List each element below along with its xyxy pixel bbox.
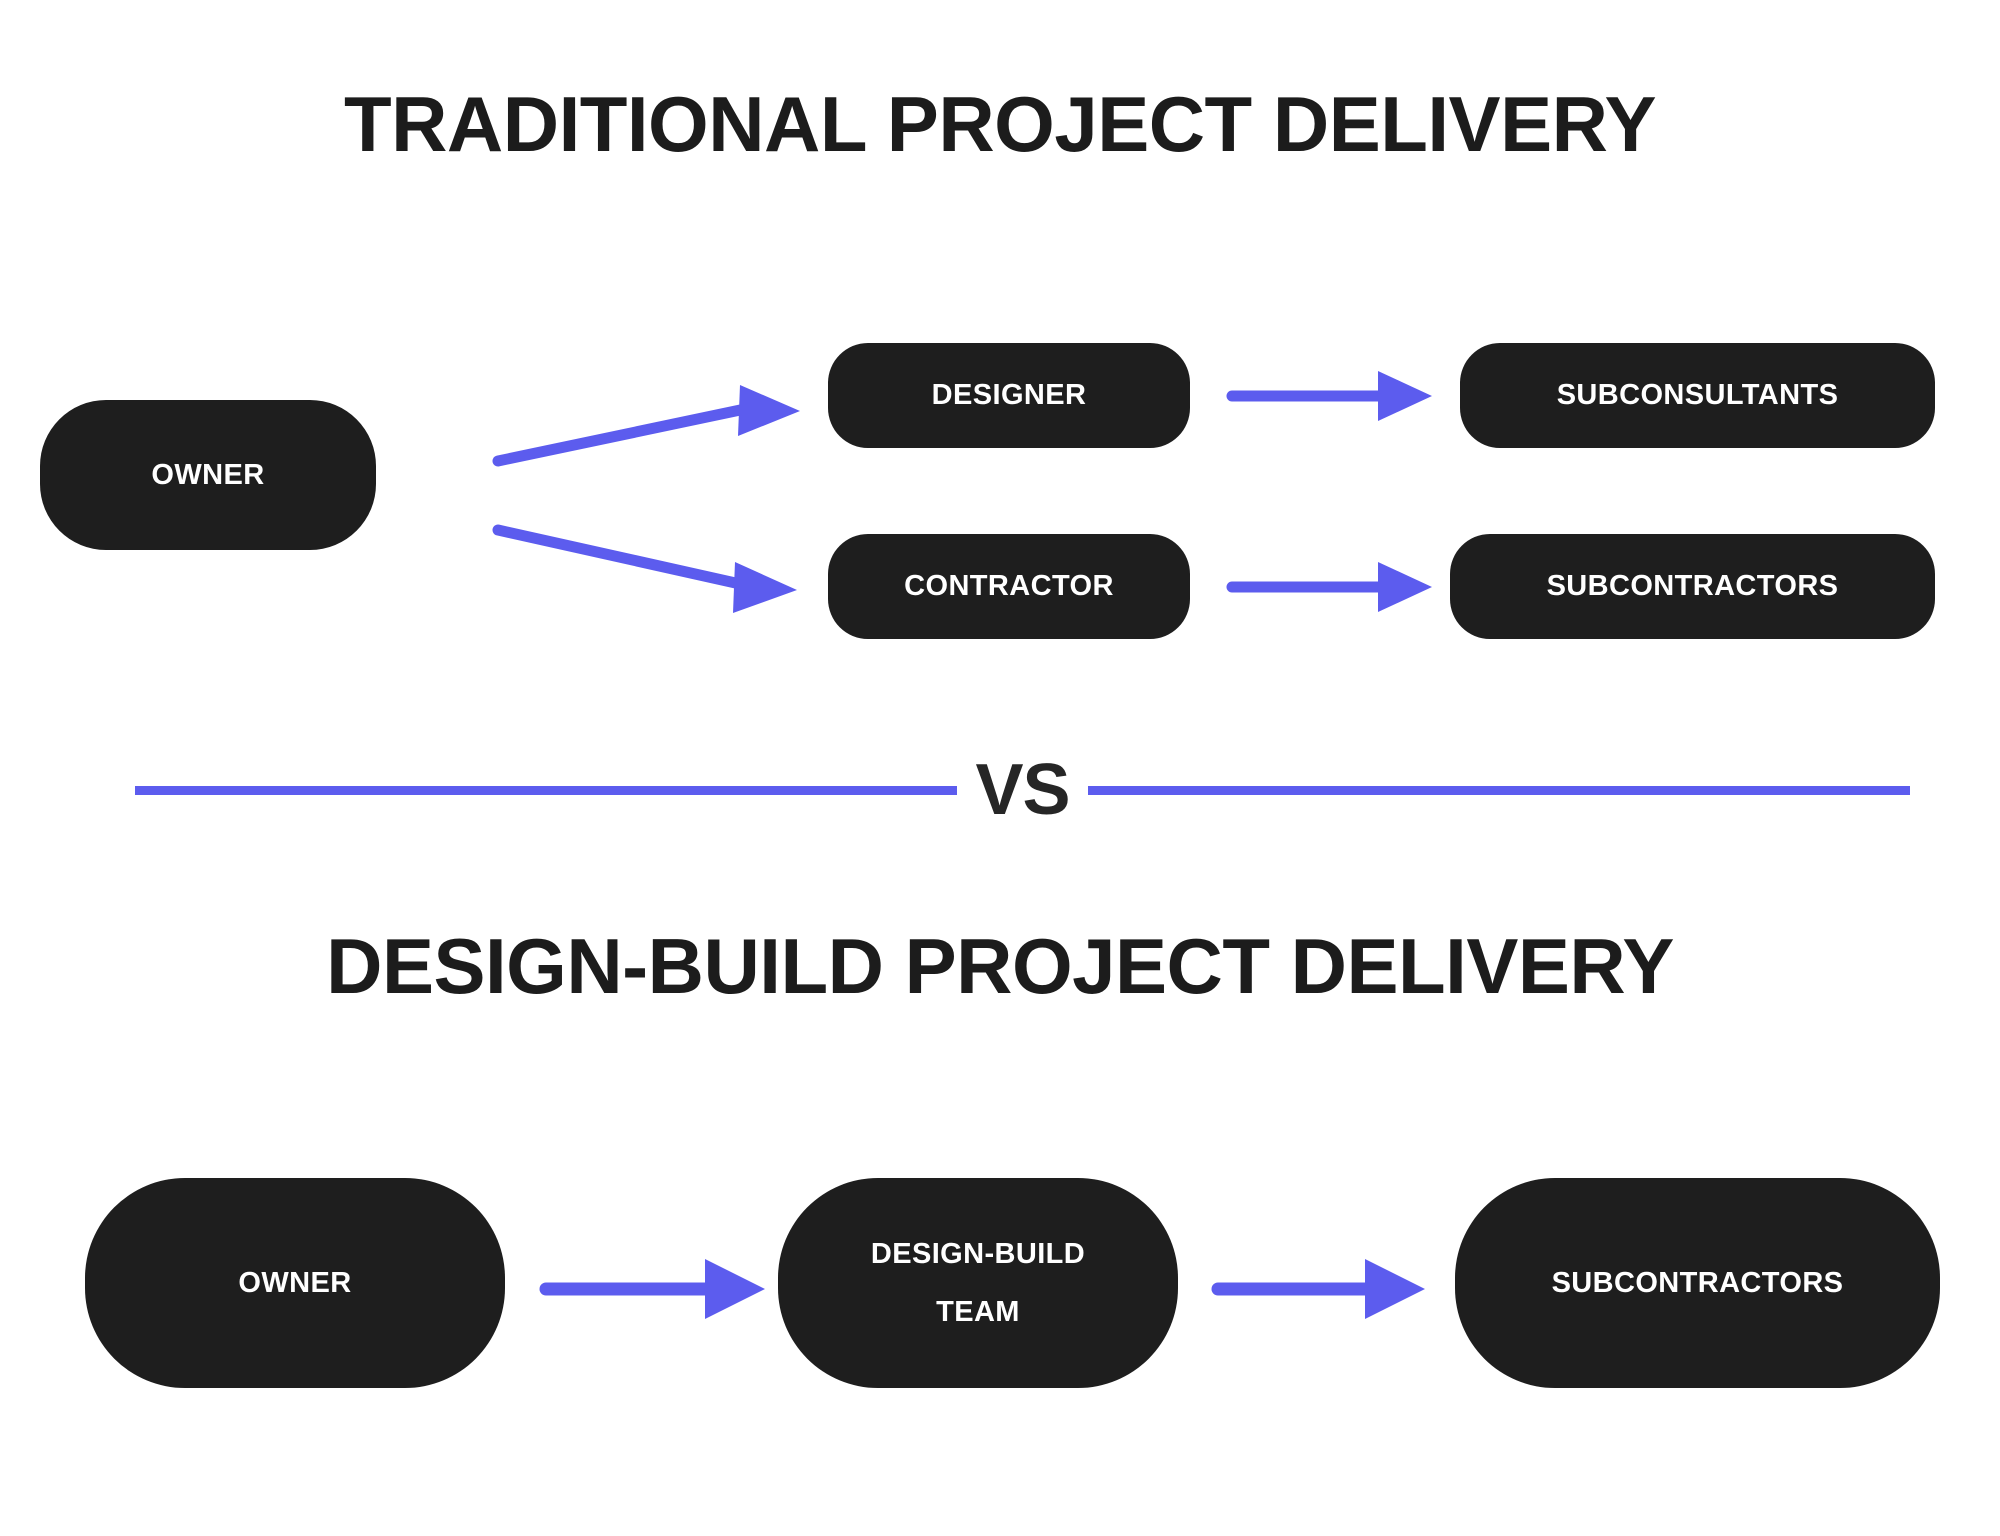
traditional-section-title: TRADITIONAL PROJECT DELIVERY: [0, 78, 2000, 170]
vs-label: VS: [957, 754, 1087, 826]
node-contractor-label: CONTRACTOR: [828, 570, 1190, 603]
node-subconsultants[interactable]: SUBCONSULTANTS: [1460, 343, 1935, 448]
arrow-designer-to-subconsultants: [1232, 371, 1432, 421]
node-subcontractors-traditional-label: SUBCONTRACTORS: [1450, 570, 1935, 603]
arrow-owner-to-contractor: [498, 530, 797, 613]
diagram-canvas: TRADITIONAL PROJECT DELIVERY OWNER DESIG…: [0, 0, 2000, 1536]
node-owner-designbuild-label: OWNER: [85, 1267, 505, 1300]
node-designbuild-team-label: DESIGN-BUILD TEAM: [778, 1225, 1178, 1341]
node-subcontractors-traditional[interactable]: SUBCONTRACTORS: [1450, 534, 1935, 639]
divider-rule-right: [1088, 786, 1910, 795]
arrow-contractor-to-subcontractors: [1232, 562, 1432, 612]
arrow-owner-to-designbuild-team: [546, 1259, 765, 1319]
node-subconsultants-label: SUBCONSULTANTS: [1460, 379, 1935, 412]
node-designer-label: DESIGNER: [828, 379, 1190, 412]
node-designer[interactable]: DESIGNER: [828, 343, 1190, 448]
vs-divider: VS: [135, 745, 1910, 835]
arrow-designbuild-team-to-subcontractors: [1218, 1259, 1425, 1319]
node-owner-traditional[interactable]: OWNER: [40, 400, 376, 550]
node-designbuild-team[interactable]: DESIGN-BUILD TEAM: [778, 1178, 1178, 1388]
arrow-owner-to-designer: [498, 385, 800, 461]
divider-rule-left: [135, 786, 957, 795]
node-owner-traditional-label: OWNER: [40, 459, 376, 492]
node-subcontractors-designbuild-label: SUBCONTRACTORS: [1455, 1267, 1940, 1300]
node-contractor[interactable]: CONTRACTOR: [828, 534, 1190, 639]
designbuild-section-title: DESIGN-BUILD PROJECT DELIVERY: [0, 920, 2000, 1012]
node-owner-designbuild[interactable]: OWNER: [85, 1178, 505, 1388]
node-subcontractors-designbuild[interactable]: SUBCONTRACTORS: [1455, 1178, 1940, 1388]
